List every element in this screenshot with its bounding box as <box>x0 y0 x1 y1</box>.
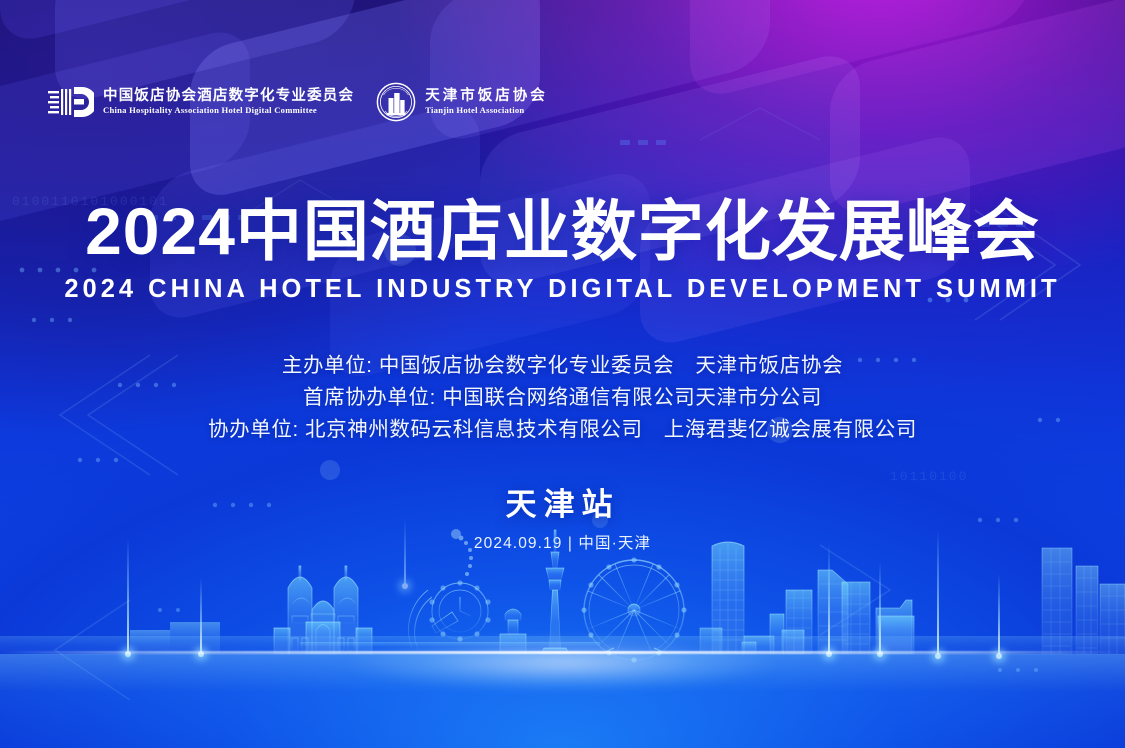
event-poster: 0100110101000101 10110100 01001011 <box>0 0 1125 748</box>
logo-name-cn: 天津市饭店协会 <box>425 87 548 105</box>
hd-monogram-logo-icon <box>48 84 94 120</box>
horizon-light-line <box>0 651 1125 654</box>
logo-name-cn: 中国饭店协会酒店数字化专业委员会 <box>103 87 354 105</box>
organizer-line-host: 主办单位: 中国饭店协会数字化专业委员会 天津市饭店协会 <box>0 350 1125 382</box>
skyscrapers-icon <box>770 570 914 654</box>
main-title-en: 2024 CHINA HOTEL INDUSTRY DIGITAL DEVELO… <box>0 277 1125 303</box>
light-beam <box>200 578 202 654</box>
organizers-block: 主办单位: 中国饭店协会数字化专业委员会 天津市饭店协会 首席协办单位: 中国联… <box>0 350 1125 446</box>
header-logos: 中国饭店协会酒店数字化专业委员会 China Hospitality Assoc… <box>48 82 548 122</box>
light-beam <box>828 544 830 654</box>
main-title-cn: 2024中国酒店业数字化发展峰会 <box>0 198 1125 264</box>
organizer-line-coorganizer: 协办单位: 北京神州数码云科信息技术有限公司 上海君斐亿诚会展有限公司 <box>0 414 1125 446</box>
horizon-center-glow <box>348 636 778 690</box>
light-beam <box>998 574 1000 656</box>
cathedral-icon <box>274 566 372 654</box>
organizer-line-chief-coorganizer: 首席协办单位: 中国联合网络通信有限公司天津市分公司 <box>0 382 1125 414</box>
logo-name-en: China Hospitality Association Hotel Digi… <box>103 105 354 116</box>
title-block: 2024中国酒店业数字化发展峰会 2024 CHINA HOTEL INDUST… <box>0 198 1125 303</box>
logo-china-hospitality-association: 中国饭店协会酒店数字化专业委员会 China Hospitality Assoc… <box>48 84 354 120</box>
century-clock-icon <box>408 529 490 654</box>
light-beam <box>937 530 939 656</box>
svg-text:10110100: 10110100 <box>890 469 968 484</box>
bg-rhombus-shape <box>690 0 1030 102</box>
bg-rhombus-shape <box>830 0 1125 221</box>
tianjin-hotel-association-seal-icon <box>376 82 416 122</box>
light-beam <box>879 562 881 654</box>
logo-tianjin-hotel-association: 天津市饭店协会 Tianjin Hotel Association <box>376 82 548 122</box>
bg-rhombus-shape <box>430 0 770 147</box>
logo-name-en: Tianjin Hotel Association <box>425 105 548 116</box>
light-beam <box>404 518 406 586</box>
bg-rhombus-shape <box>0 0 300 47</box>
tianjin-skyline <box>0 518 1125 748</box>
far-right-towers-icon <box>1042 548 1125 654</box>
light-beam <box>127 538 129 654</box>
